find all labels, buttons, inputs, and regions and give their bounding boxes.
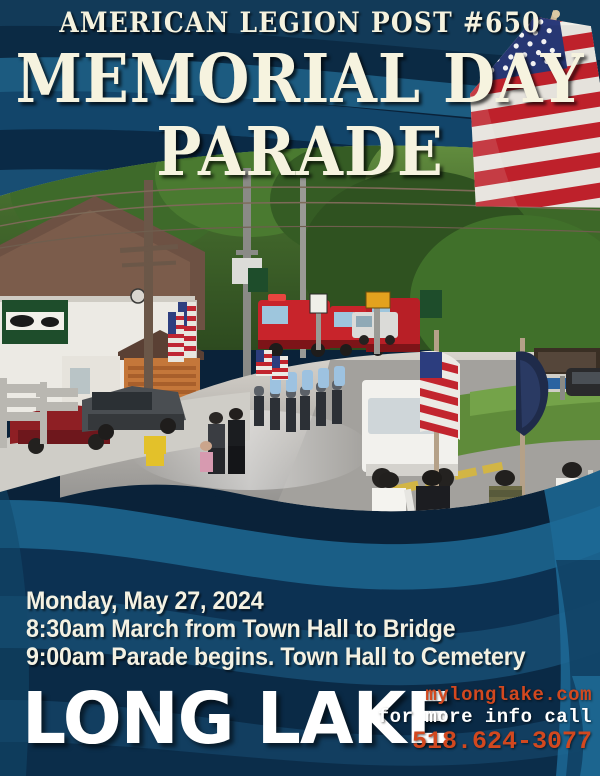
phone-number[interactable]: 518.624-3077 <box>378 729 592 754</box>
more-info-label: for more info call <box>378 708 592 727</box>
contact-block: mylonglake.com for more info call 518.62… <box>378 686 592 754</box>
event-details: Monday, May 27, 2024 8:30am March from T… <box>26 588 563 672</box>
schedule-line-2: 9:00am Parade begins. Town Hall to Cemet… <box>26 644 525 671</box>
memorial-day-parade-poster: AMERICAN LEGION POST #650 MEMORIAL DAY P… <box>0 0 600 776</box>
event-date: Monday, May 27, 2024 <box>26 588 525 615</box>
schedule-line-1: 8:30am March from Town Hall to Bridge <box>26 616 525 643</box>
website-link[interactable]: mylonglake.com <box>378 686 592 705</box>
american-flag-graphic <box>455 10 600 240</box>
